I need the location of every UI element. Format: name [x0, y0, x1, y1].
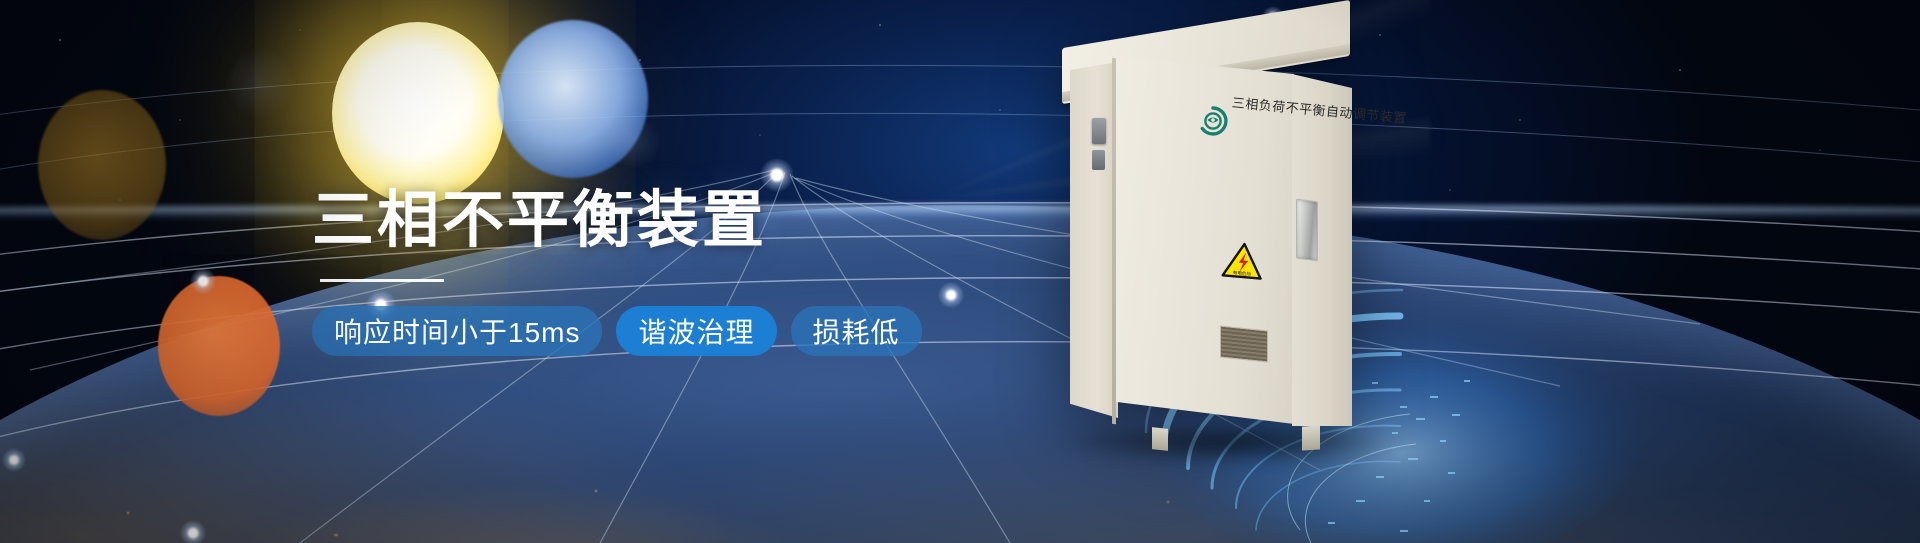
- dim-bokeh-orb-2: [606, 112, 660, 170]
- cabinet-hinge-lower: [1092, 150, 1105, 170]
- cabinet-hinge-upper: [1092, 118, 1106, 144]
- cabinet-ventilation-grille: [1220, 325, 1268, 362]
- hero-banner: 三相负荷不平衡自动调节装置 有电危险 三相不平衡装置 响应时间小于15ms 谐波…: [0, 0, 1920, 543]
- feature-tag-response-time[interactable]: 响应时间小于15ms: [312, 306, 602, 356]
- dim-bokeh-orb-1: [228, 48, 292, 118]
- feature-tag-list: 响应时间小于15ms 谐波治理 损耗低: [312, 306, 922, 356]
- feature-tag-harmonic[interactable]: 谐波治理: [616, 306, 776, 356]
- title-divider: [320, 279, 444, 282]
- orange-bokeh-orb: [158, 276, 280, 416]
- banner-copy: 三相不平衡装置 响应时间小于15ms 谐波治理 损耗低: [312, 188, 922, 356]
- cabinet-door-seam: [1112, 58, 1116, 424]
- cabinet-door-handle[interactable]: [1296, 199, 1318, 262]
- electric-hazard-warning-icon: 有电危险: [1220, 240, 1265, 282]
- company-logo-icon: [1198, 106, 1228, 136]
- cabinet-foot-left: [1152, 427, 1168, 451]
- cabinet-foot-right: [1302, 425, 1320, 450]
- product-cabinet: 三相负荷不平衡自动调节装置 有电危险: [1056, 24, 1386, 444]
- page-title: 三相不平衡装置: [312, 188, 922, 254]
- feature-tag-low-loss[interactable]: 损耗低: [791, 306, 922, 356]
- sun-orb: [332, 22, 504, 204]
- amber-bokeh-orb: [38, 90, 166, 240]
- cabinet-left-panel: [1070, 62, 1118, 418]
